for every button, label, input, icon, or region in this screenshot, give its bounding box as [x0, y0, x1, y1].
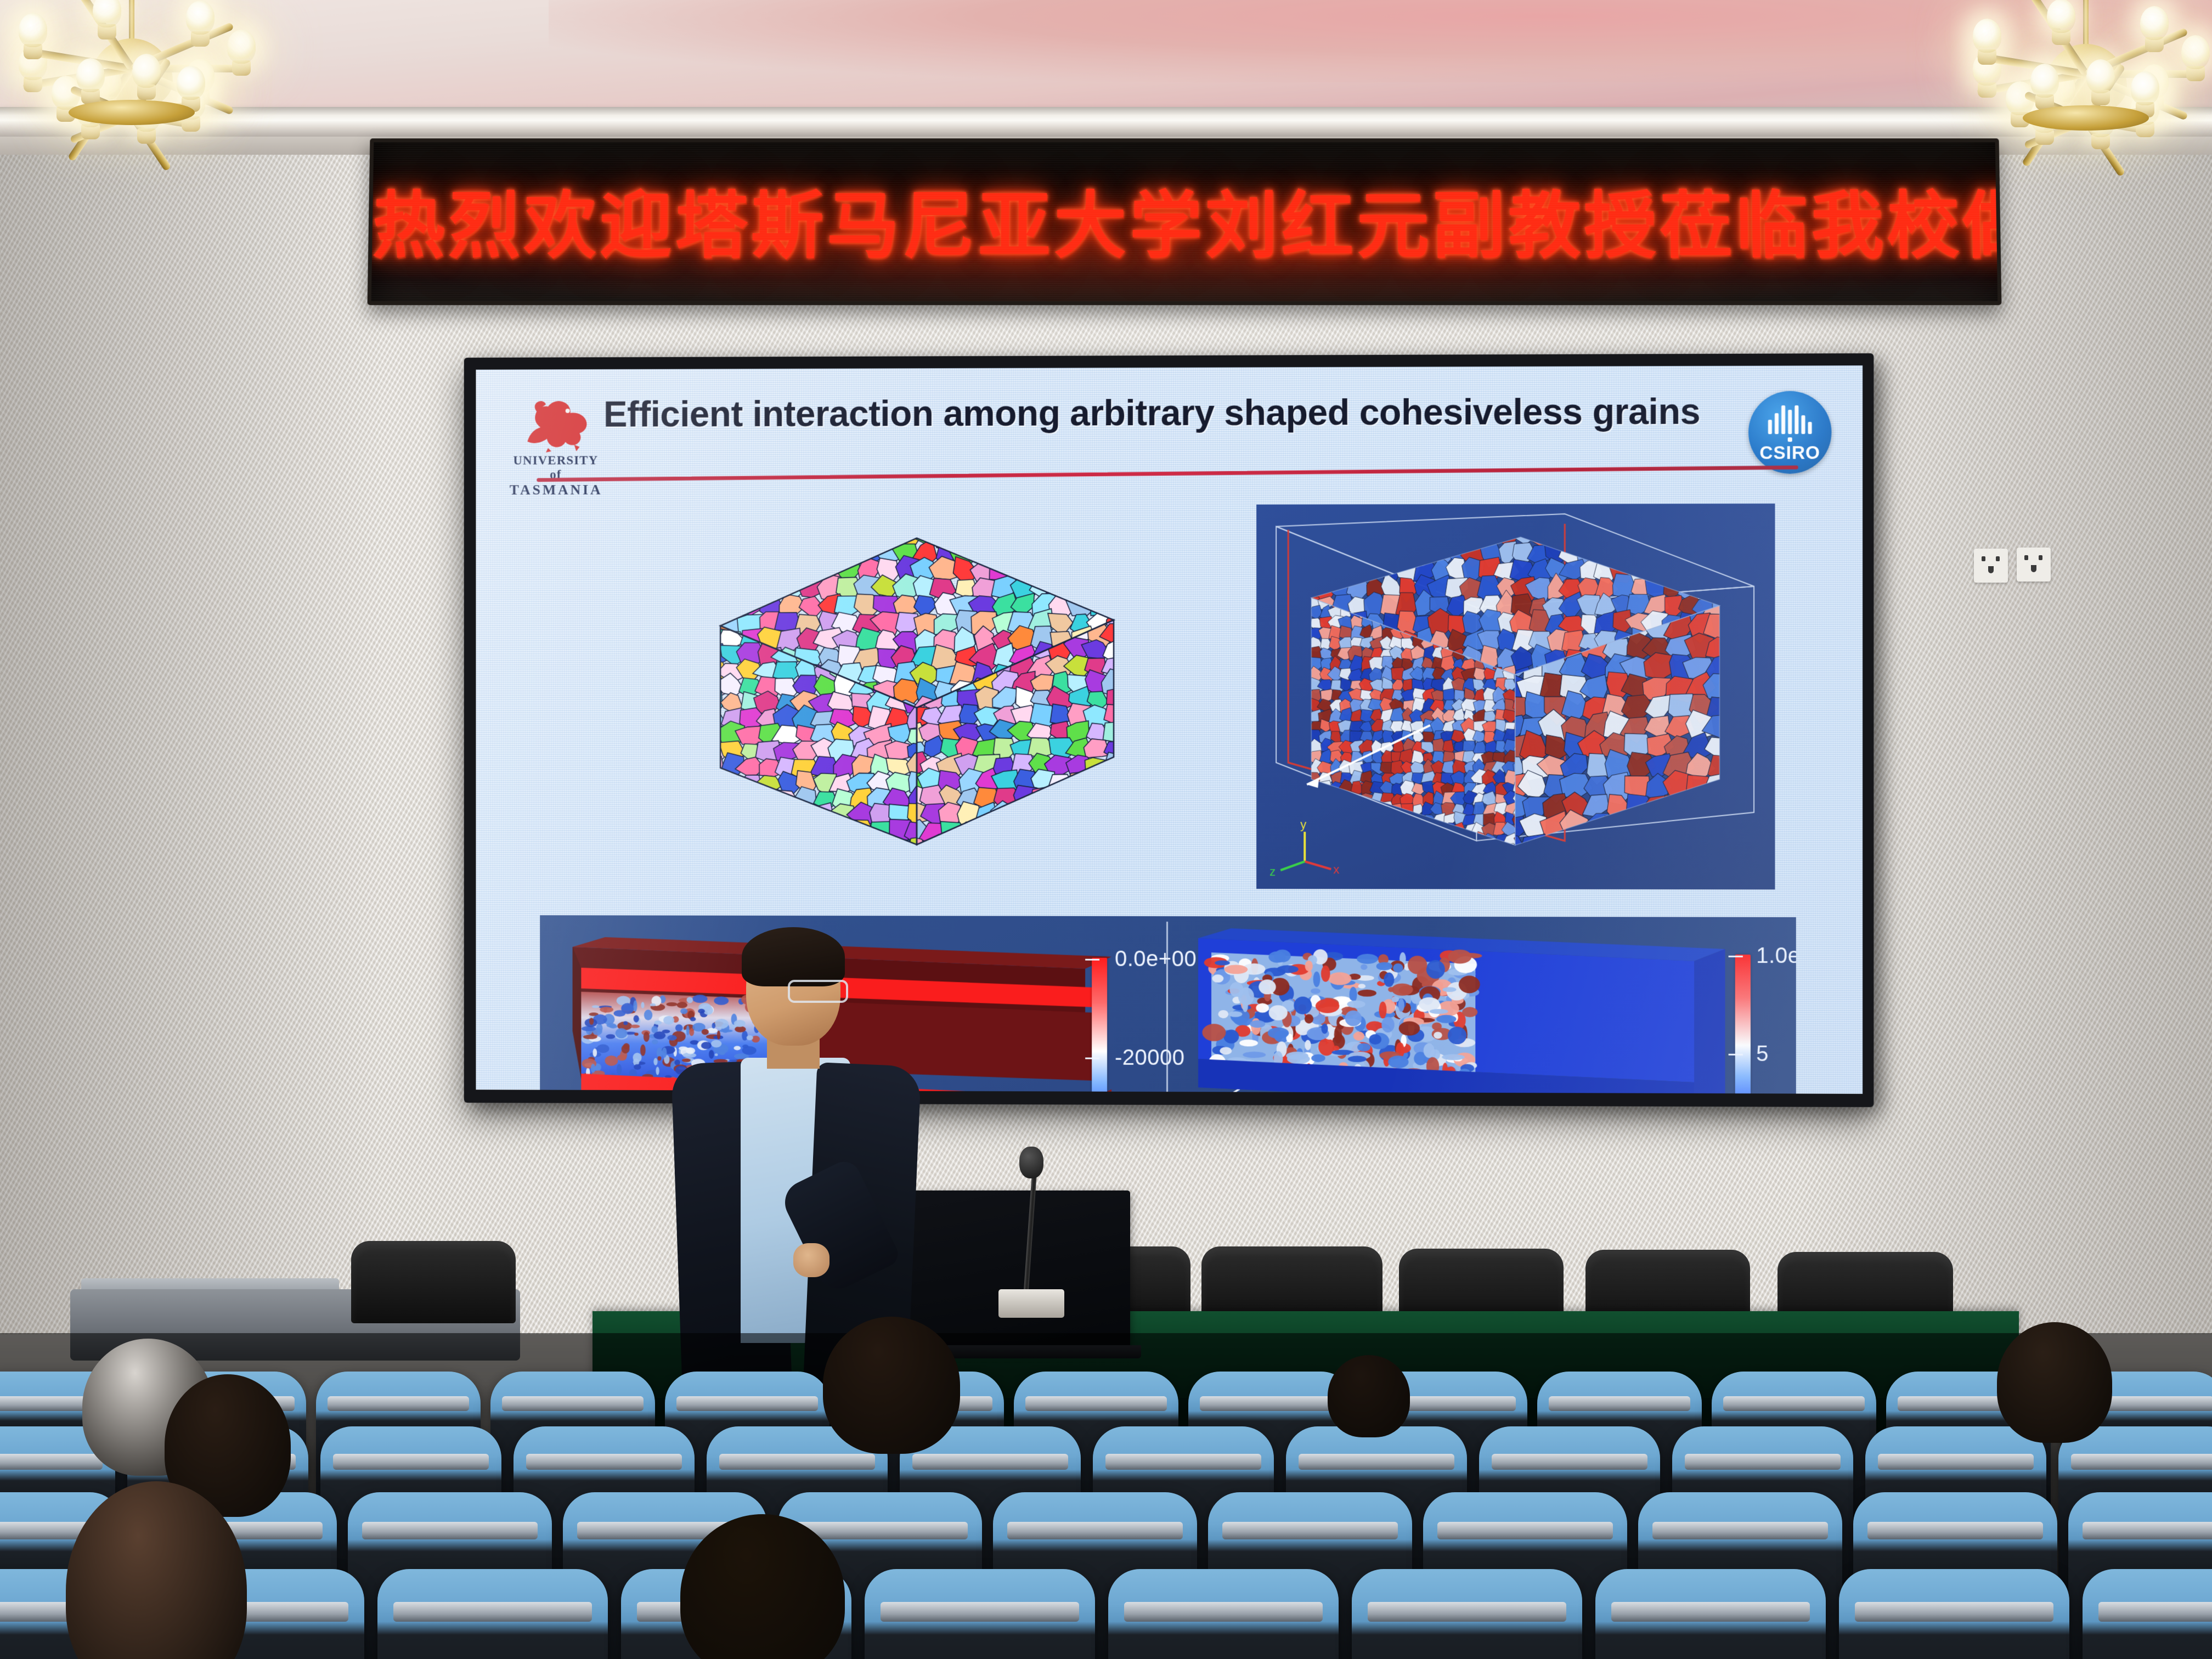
seat-rail — [2071, 1454, 2212, 1470]
seat-rail — [1867, 1522, 2043, 1539]
stage-chair — [351, 1241, 516, 1323]
sigmayy-tick-0 — [1085, 959, 1099, 961]
seat-rail — [333, 1454, 489, 1470]
seat-rail — [1611, 1602, 1809, 1622]
csiro-mark-icon — [1768, 405, 1812, 434]
elementprop-colorbar — [1735, 955, 1751, 1094]
presenter-hand — [793, 1243, 830, 1277]
seat-rail — [1652, 1522, 1828, 1539]
seat-rail — [1222, 1522, 1398, 1539]
axis-triad-icon: y x z — [1269, 817, 1339, 878]
audience-member — [66, 1481, 247, 1659]
elementprop-tick-0 — [1729, 956, 1743, 957]
audience-seat — [377, 1569, 608, 1659]
seat-rail — [1105, 1454, 1261, 1470]
seat-rail — [362, 1522, 538, 1539]
seat-rail — [676, 1396, 818, 1411]
audience-seat — [1595, 1569, 1826, 1659]
seat-rail — [1368, 1602, 1566, 1622]
chandelier-bulb — [19, 13, 47, 47]
presenter-glasses — [788, 980, 848, 1003]
led-welcome-banner: 热烈欢迎塔斯马尼亚大学刘红元副教授莅临我校做学术报告 — [368, 138, 2002, 305]
microphone-base — [998, 1289, 1064, 1318]
chandelier-bulb — [2131, 71, 2159, 105]
chandelier-disc — [69, 100, 195, 125]
chandelier-bulb — [2047, 0, 2075, 33]
seat-rail — [1723, 1396, 1865, 1411]
utas-lion-icon — [518, 396, 594, 453]
csiro-logo: CSIRO — [1748, 391, 1832, 474]
audience-member — [680, 1514, 845, 1659]
presentation-screen: UNIVERSITY of TASMANIA CSIRO Efficient i… — [464, 353, 1874, 1107]
svg-text:y: y — [1300, 817, 1306, 831]
wall-shadow-left — [0, 155, 384, 1334]
seat-rail — [502, 1396, 644, 1411]
audience-head — [680, 1514, 845, 1659]
seat-rail — [1492, 1454, 1647, 1470]
audience-seat — [1352, 1569, 1582, 1659]
audience-seat — [1839, 1569, 2069, 1659]
seat-rail — [1299, 1454, 1454, 1470]
audience-head — [823, 1317, 960, 1454]
seat-rail — [393, 1602, 591, 1622]
seat-rail — [328, 1396, 469, 1411]
elementprop-label-1: 5 — [1756, 1042, 1769, 1066]
seat-rail — [2083, 1522, 2212, 1539]
slide-title: Efficient interaction among arbitrary sh… — [584, 390, 1719, 435]
chandelier-bulb — [186, 1, 215, 35]
audience-member — [1328, 1355, 1410, 1437]
chandelier-bulb — [227, 30, 256, 64]
audience-seat — [865, 1569, 1095, 1659]
audience-head — [1328, 1355, 1410, 1437]
chandelier-bulb — [2140, 6, 2169, 40]
svg-text:z: z — [1269, 865, 1276, 878]
chandelier-bulb — [2181, 35, 2210, 69]
audience-member — [823, 1317, 960, 1454]
audience-member — [1997, 1322, 2112, 1443]
sigmayy-colorbar — [1092, 958, 1107, 1094]
seat-rail — [1025, 1396, 1167, 1411]
chandelier-bulb — [93, 0, 121, 27]
microphone-head — [1019, 1147, 1043, 1178]
elementprop-slab-svg — [1167, 916, 1796, 1094]
led-banner-text: 热烈欢迎塔斯马尼亚大学刘红元副教授莅临我校做学术报告 — [372, 167, 1997, 272]
chandelier-left — [0, 0, 285, 181]
lecture-hall-photo: 热烈欢迎塔斯马尼亚大学刘红元副教授莅临我校做学术报告 UNIVERSITY of… — [0, 0, 2212, 1659]
seat-rail — [1437, 1522, 1613, 1539]
sigmayy-tick-1 — [1085, 1058, 1099, 1059]
seat-rail — [881, 1602, 1079, 1622]
seat-rail — [526, 1454, 682, 1470]
grain-box-svg: y x z — [1256, 504, 1775, 890]
seat-rail — [1685, 1454, 1841, 1470]
chandelier-bulb — [177, 66, 205, 100]
seat-rail — [719, 1454, 875, 1470]
presenter-hair — [742, 927, 845, 986]
audience-head — [1997, 1322, 2112, 1443]
seat-rail — [1007, 1522, 1183, 1539]
audience-seat — [2083, 1569, 2212, 1659]
chandelier-bulb — [76, 58, 105, 92]
utas-logo-line2: TASMANIA — [510, 482, 602, 498]
elementprop-tick-1 — [1729, 1054, 1743, 1056]
seat-rail — [1200, 1396, 1341, 1411]
svg-text:x: x — [1333, 862, 1339, 876]
seat-rail — [912, 1454, 1068, 1470]
wall-outlet-left — [1974, 549, 2008, 583]
seat-rail — [1855, 1602, 2053, 1622]
seat-rail — [1878, 1454, 2034, 1470]
seat-rail — [1124, 1602, 1322, 1622]
audience-seat — [1108, 1569, 1339, 1659]
voronoi-block-graphic — [633, 516, 1147, 878]
chandelier-bulb — [2030, 64, 2059, 98]
csiro-dot — [1788, 437, 1792, 442]
elementprop-label-0: 1.0e+01 — [1756, 944, 1796, 969]
cornice-moulding — [0, 107, 2212, 137]
wall-outlet-right — [2017, 548, 2051, 582]
seat-rail — [2098, 1602, 2212, 1622]
chandelier-bulb — [2086, 59, 2115, 93]
chandelier-bulb — [1973, 19, 2001, 53]
seat-rail — [1549, 1396, 1690, 1411]
audience-head — [66, 1481, 247, 1659]
title-underline — [537, 465, 1798, 482]
voronoi-svg — [633, 516, 1147, 878]
panel-voronoi-grain-block — [633, 505, 1147, 889]
chandelier-bulb — [132, 54, 161, 88]
panel-packed-grain-box: y x z — [1256, 504, 1775, 890]
chandelier-disc — [2023, 105, 2149, 131]
csiro-wordmark: CSIRO — [1748, 442, 1832, 464]
